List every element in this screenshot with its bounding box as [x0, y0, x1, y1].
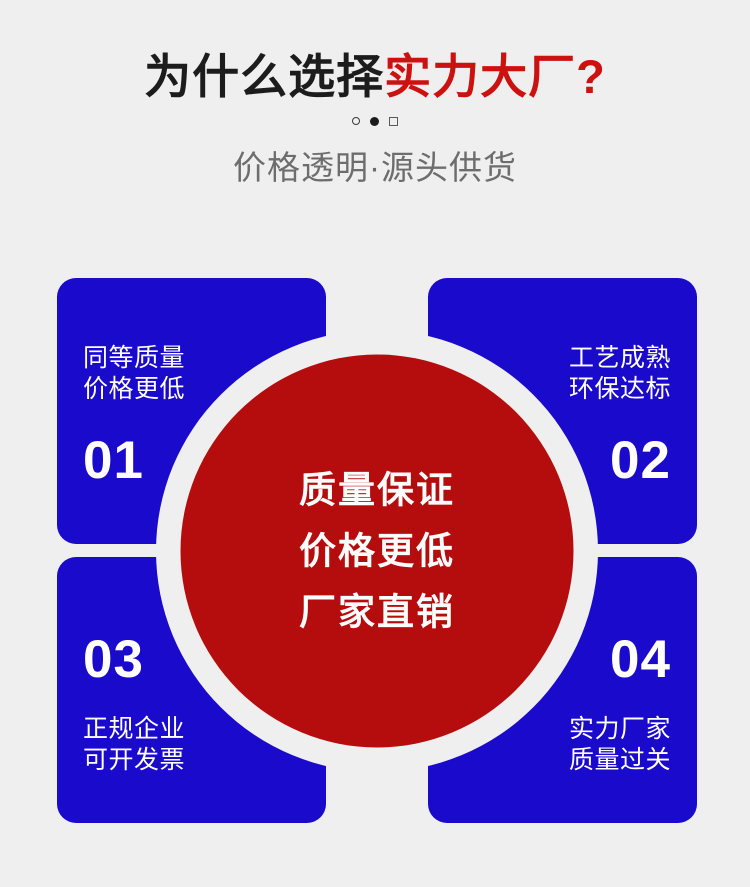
- page-title-primary: 为什么选择: [144, 50, 384, 103]
- benefit-card-04-text: 实力厂家 质量过关: [569, 714, 671, 775]
- benefit-card-04-line1: 实力厂家: [569, 714, 671, 745]
- benefit-card-03-line2: 可开发票: [83, 745, 185, 776]
- benefit-card-03-line1: 正规企业: [83, 714, 185, 745]
- benefits-diagram: 同等质量 价格更低 01 工艺成熟 环保达标 02 03 正规企业 可开发票 0…: [57, 278, 697, 823]
- medallion-line3: 厂家直销: [299, 593, 455, 630]
- medallion-line2: 价格更低: [299, 532, 455, 569]
- circle-filled-icon: [370, 117, 379, 126]
- benefit-card-01-line2: 价格更低: [83, 374, 185, 405]
- benefit-card-04-number: 04: [610, 633, 671, 686]
- benefit-card-02-number: 02: [610, 434, 671, 487]
- benefit-card-03-number: 03: [83, 633, 144, 686]
- square-outline-icon: [389, 117, 398, 126]
- benefit-card-02-text: 工艺成熟 环保达标: [569, 343, 671, 404]
- medallion-line1: 质量保证: [299, 471, 455, 508]
- decorative-marks: [0, 114, 750, 128]
- benefit-card-01-text: 同等质量 价格更低: [83, 343, 185, 404]
- benefit-card-02-line2: 环保达标: [569, 374, 671, 405]
- benefit-card-01-line1: 同等质量: [83, 343, 185, 374]
- benefit-card-04-line2: 质量过关: [569, 745, 671, 776]
- page-title: 为什么选择实力大厂?: [0, 52, 750, 101]
- benefit-card-02-line1: 工艺成熟: [569, 343, 671, 374]
- benefit-card-01-number: 01: [83, 434, 144, 487]
- header: 为什么选择实力大厂? 价格透明·源头供货: [0, 0, 750, 187]
- page-subtitle: 价格透明·源头供货: [0, 150, 750, 186]
- page-title-accent: 实力大厂?: [384, 50, 606, 103]
- medallion: 质量保证 价格更低 厂家直销: [181, 354, 574, 747]
- circle-outline-icon: [352, 117, 360, 125]
- benefit-card-03-text: 正规企业 可开发票: [83, 714, 185, 775]
